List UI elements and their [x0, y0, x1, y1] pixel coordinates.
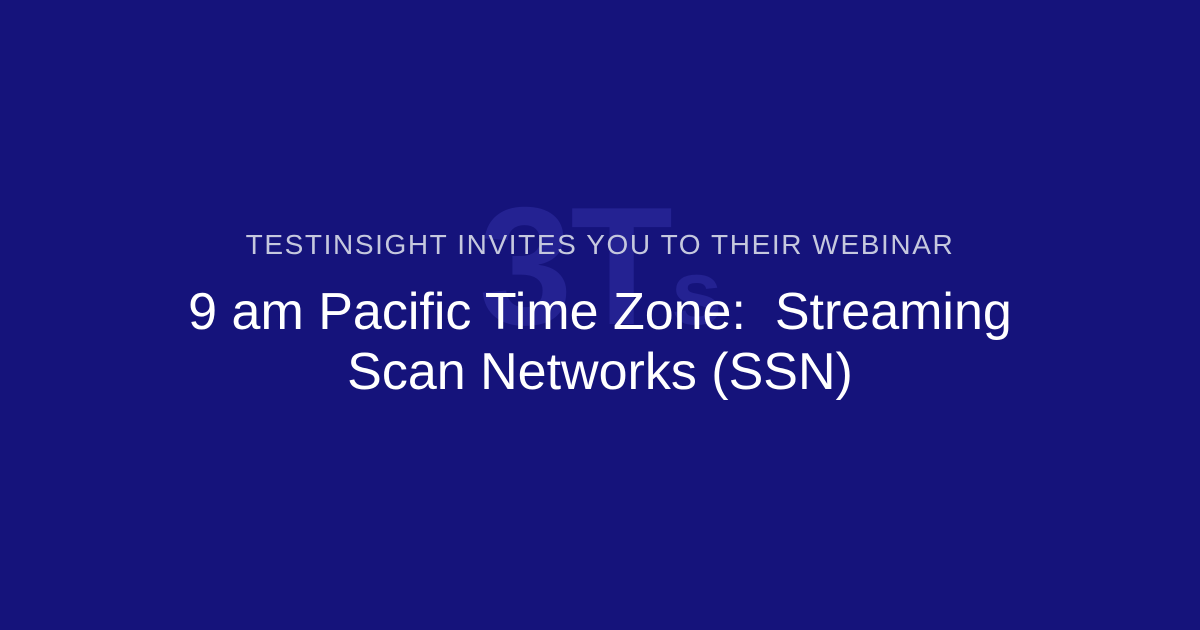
- banner-content: TESTINSIGHT INVITES YOU TO THEIR WEBINAR…: [180, 228, 1020, 402]
- webinar-banner: 3Ts TESTINSIGHT INVITES YOU TO THEIR WEB…: [0, 0, 1200, 630]
- banner-headline: 9 am Pacific Time Zone: Streaming Scan N…: [180, 282, 1020, 402]
- banner-eyebrow: TESTINSIGHT INVITES YOU TO THEIR WEBINAR: [180, 228, 1020, 262]
